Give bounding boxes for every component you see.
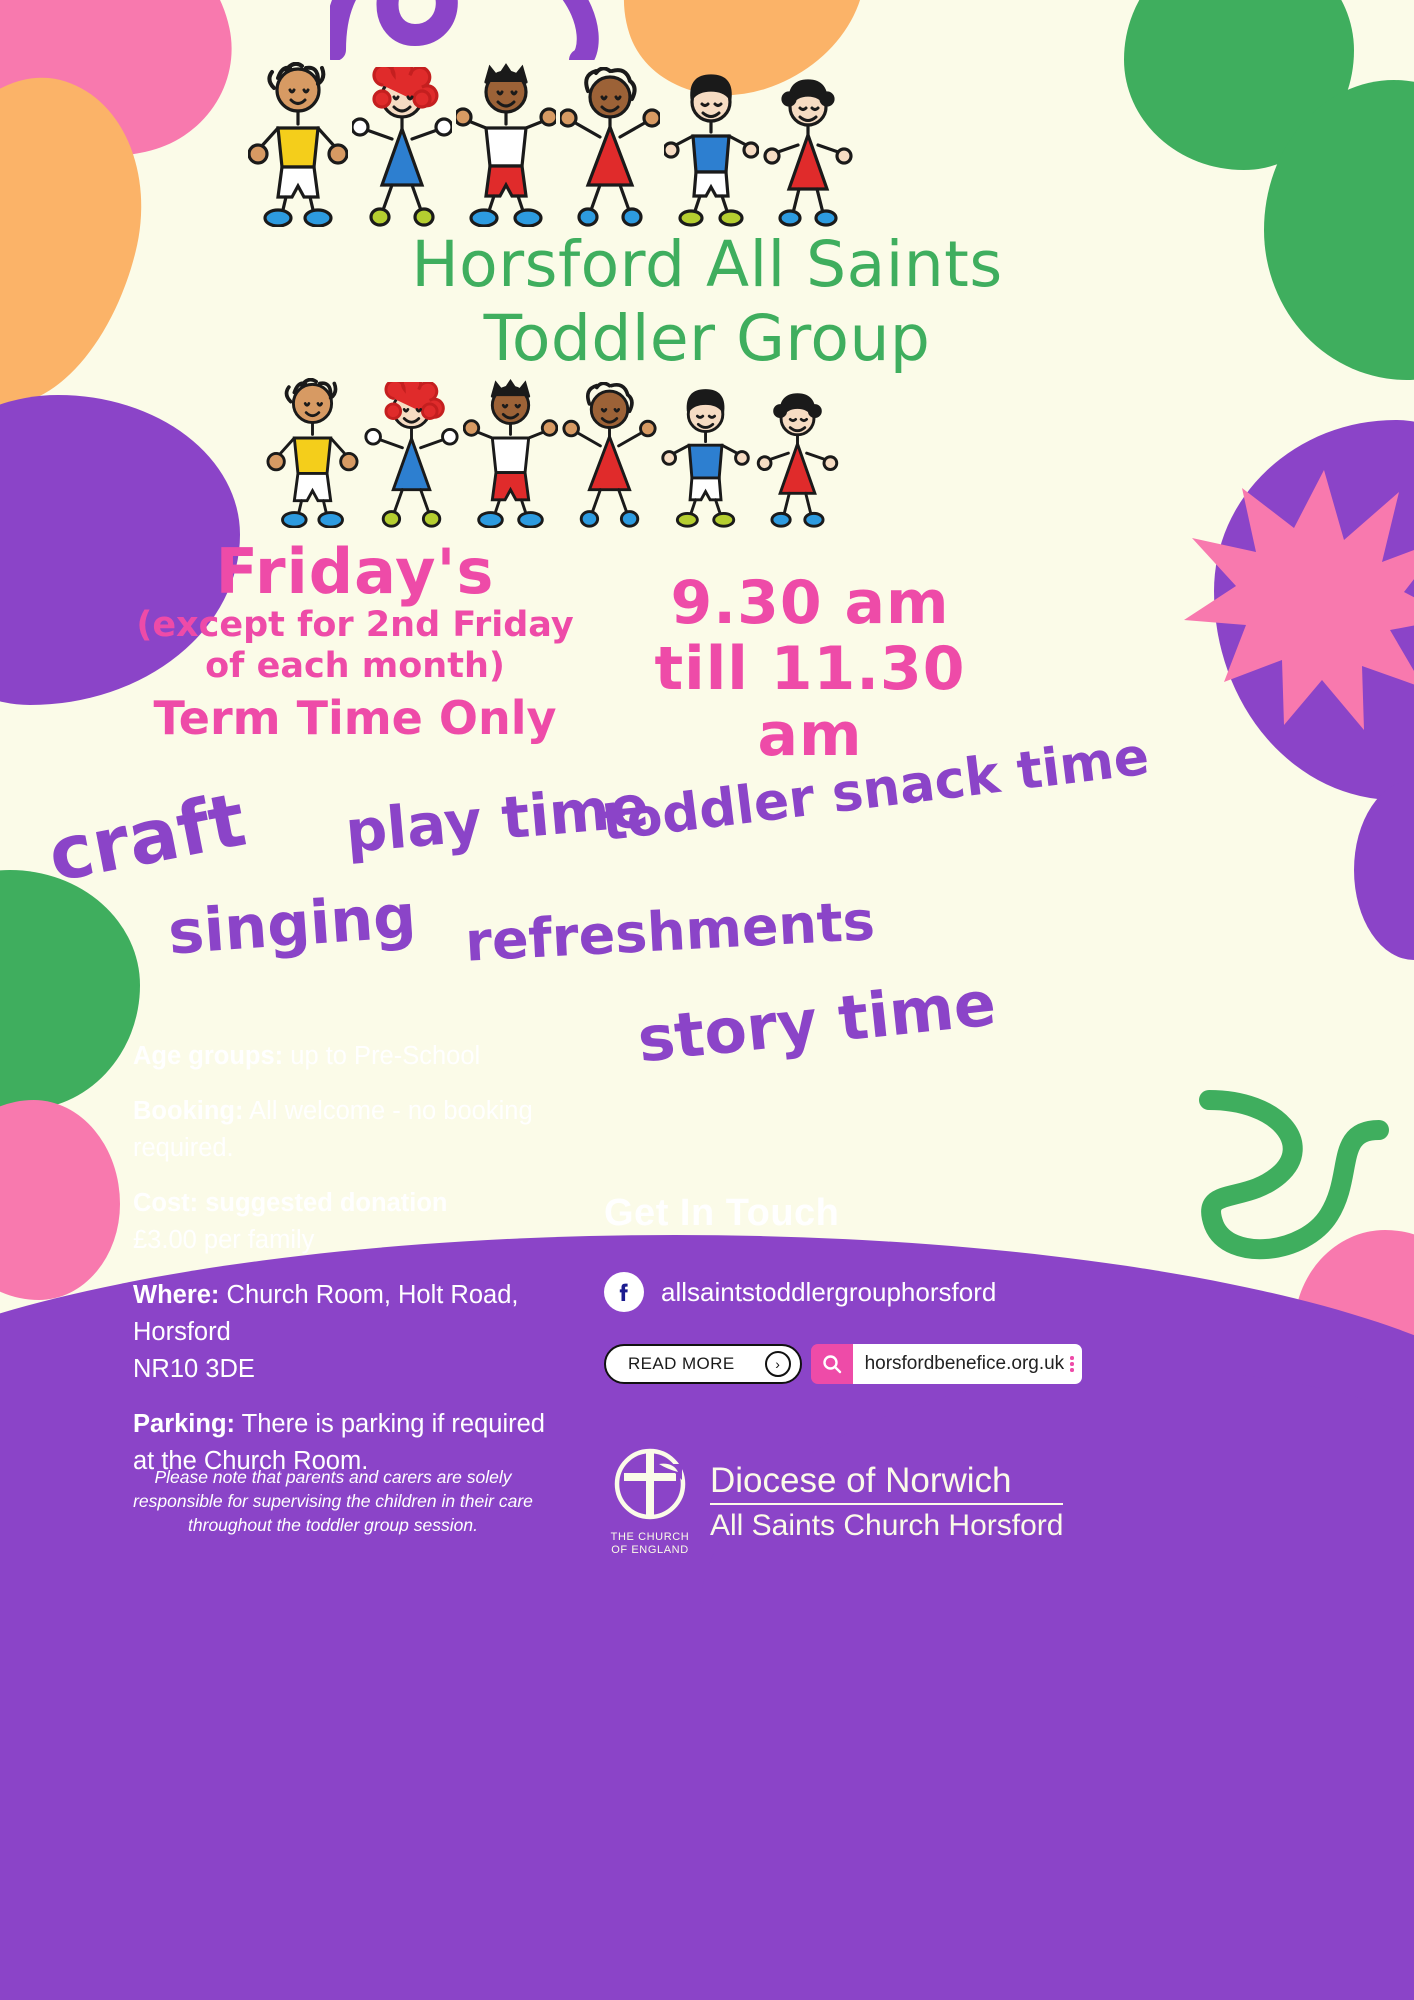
children-illustration-top [240,62,860,227]
decorative-blob-pink-left-mid [0,1100,120,1300]
activity-story-time: story time [634,966,999,1076]
decorative-blob-green-left [0,870,140,1110]
church-of-england-cross-icon [604,1446,696,1524]
website-url: horsfordbenefice.org.uk [865,1353,1065,1375]
child-figure-red-dress-dark-hair-icon [755,391,840,528]
decorative-squiggle-green-icon [1184,1090,1394,1310]
parish-name: All Saints Church Horsford [710,1508,1063,1543]
child-figure-red-dress-icon [562,382,657,528]
church-line-1: THE CHURCH [604,1531,696,1544]
schedule-time-end: till 11.30 am [600,636,1020,768]
schedule-exception-line-2: of each month) [120,647,590,686]
child-figure-blue-shirt-icon [661,387,751,528]
child-figure-white-shirt-red-shorts-icon [463,378,558,528]
schedule-time-block: 9.30 am till 11.30 am [600,570,1020,768]
facebook-icon [604,1272,644,1312]
detail-age-groups-label: Age groups: [133,1042,283,1070]
detail-cost: Cost: suggested donation £3.00 per famil… [133,1185,563,1259]
decorative-starburst-pink-icon [1184,470,1414,730]
diocese-text: Diocese of Norwich All Saints Church Hor… [710,1461,1063,1543]
schedule-day: Friday's [120,540,590,604]
church-of-england-wordmark: THE CHURCH OF ENGLAND [604,1531,696,1557]
diocese-logo: THE CHURCH OF ENGLAND Diocese of Norwich… [604,1446,1063,1557]
schedule-term: Term Time Only [120,692,590,744]
church-line-2: OF ENGLAND [604,1544,696,1557]
get-in-touch-title: Get In Touch [604,1192,839,1235]
children-illustration-bottom [262,378,842,528]
disclaimer-text: Please note that parents and carers are … [133,1465,533,1537]
child-figure-white-shirt-red-shorts-icon [456,62,556,227]
activity-singing: singing [166,881,418,968]
detail-where-postcode: NR10 3DE [133,1355,255,1383]
detail-cost-value: £3.00 per family [133,1226,314,1254]
website-chip[interactable]: horsfordbenefice.org.uk [811,1344,1082,1384]
child-figure-red-dress-dark-hair-icon [763,77,853,227]
decorative-blob-pink-top-left [0,0,251,186]
group-name-line-1: Horsford All Saints [411,228,1002,301]
church-of-england-mark: THE CHURCH OF ENGLAND [604,1446,696,1557]
links-row: READ MORE › horsfordbenefice.org.uk [604,1344,1082,1384]
schedule-day-block: Friday's (except for 2nd Friday of each … [120,540,590,744]
group-name-title: Horsford All Saints Toddler Group [0,228,1414,376]
detail-age-groups-value: up to Pre-School [283,1042,480,1070]
child-figure-yellow-shirt-icon [248,62,348,227]
schedule-time-start: 9.30 am [600,570,1020,636]
more-options-icon[interactable] [1070,1356,1074,1372]
activity-craft: craft [42,777,253,899]
details-list: Age groups: up to Pre-School Booking: Al… [133,1038,563,1498]
facebook-link[interactable]: allsaintstoddlergrouphorsford [604,1272,996,1312]
child-figure-red-dress-icon [560,67,660,227]
detail-parking-label: Parking: [133,1410,235,1438]
read-more-label: READ MORE [628,1354,735,1374]
poster: Horsford All Saints Toddler Group Friday… [0,0,1414,2000]
detail-cost-label: Cost: suggested donation [133,1189,448,1217]
read-more-button[interactable]: READ MORE › [604,1344,802,1384]
detail-where: Where: Church Room, Holt Road, Horsford … [133,1277,563,1388]
detail-booking-label: Booking: [133,1097,243,1125]
detail-where-label: Where: [133,1281,219,1309]
search-icon [811,1344,853,1384]
diocese-name: Diocese of Norwich [710,1461,1063,1501]
detail-booking: Booking: All welcome - no booking requir… [133,1093,563,1167]
diocese-divider [710,1503,1063,1505]
decorative-blob-purple-right-2 [1354,780,1414,960]
detail-age-groups: Age groups: up to Pre-School [133,1038,563,1075]
child-figure-blue-dress-icon [364,382,459,528]
schedule-exception-line-1: (except for 2nd Friday [120,606,590,645]
child-figure-blue-dress-icon [352,67,452,227]
facebook-handle: allsaintstoddlergrouphorsford [661,1277,996,1308]
child-figure-yellow-shirt-icon [265,378,360,528]
decorative-squiggle-purple-icon [330,0,630,60]
child-figure-blue-shirt-icon [664,72,759,227]
decorative-blob-green-top-right [1124,0,1354,170]
chevron-right-icon: › [765,1351,791,1377]
website-url-container: horsfordbenefice.org.uk [853,1344,1082,1384]
group-name-line-2: Toddler Group [0,302,1414,376]
activity-refreshments: refreshments [464,889,877,973]
